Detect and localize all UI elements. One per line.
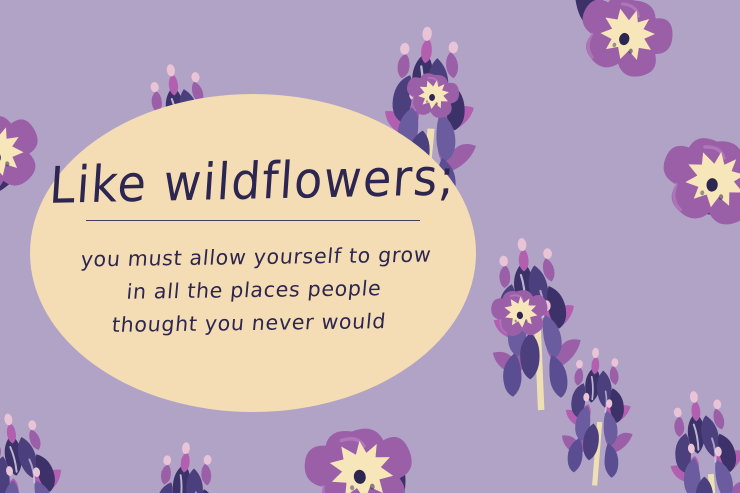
- quote-title: Like wildflowers;: [44, 151, 462, 210]
- quote-body-line-1: you must allow yourself to grow: [79, 238, 433, 276]
- quote-divider: [86, 220, 420, 221]
- quote-body: you must allow yourself to grow in all t…: [73, 238, 433, 342]
- quote-body-line-2: in all the places people: [78, 271, 430, 309]
- quote-content: Like wildflowers; you must allow yoursel…: [30, 94, 476, 412]
- quote-layer: Like wildflowers; you must allow yoursel…: [0, 0, 740, 493]
- quote-body-line-3: thought you never would: [71, 305, 427, 343]
- quote-card: Like wildflowers; you must allow yoursel…: [0, 0, 740, 493]
